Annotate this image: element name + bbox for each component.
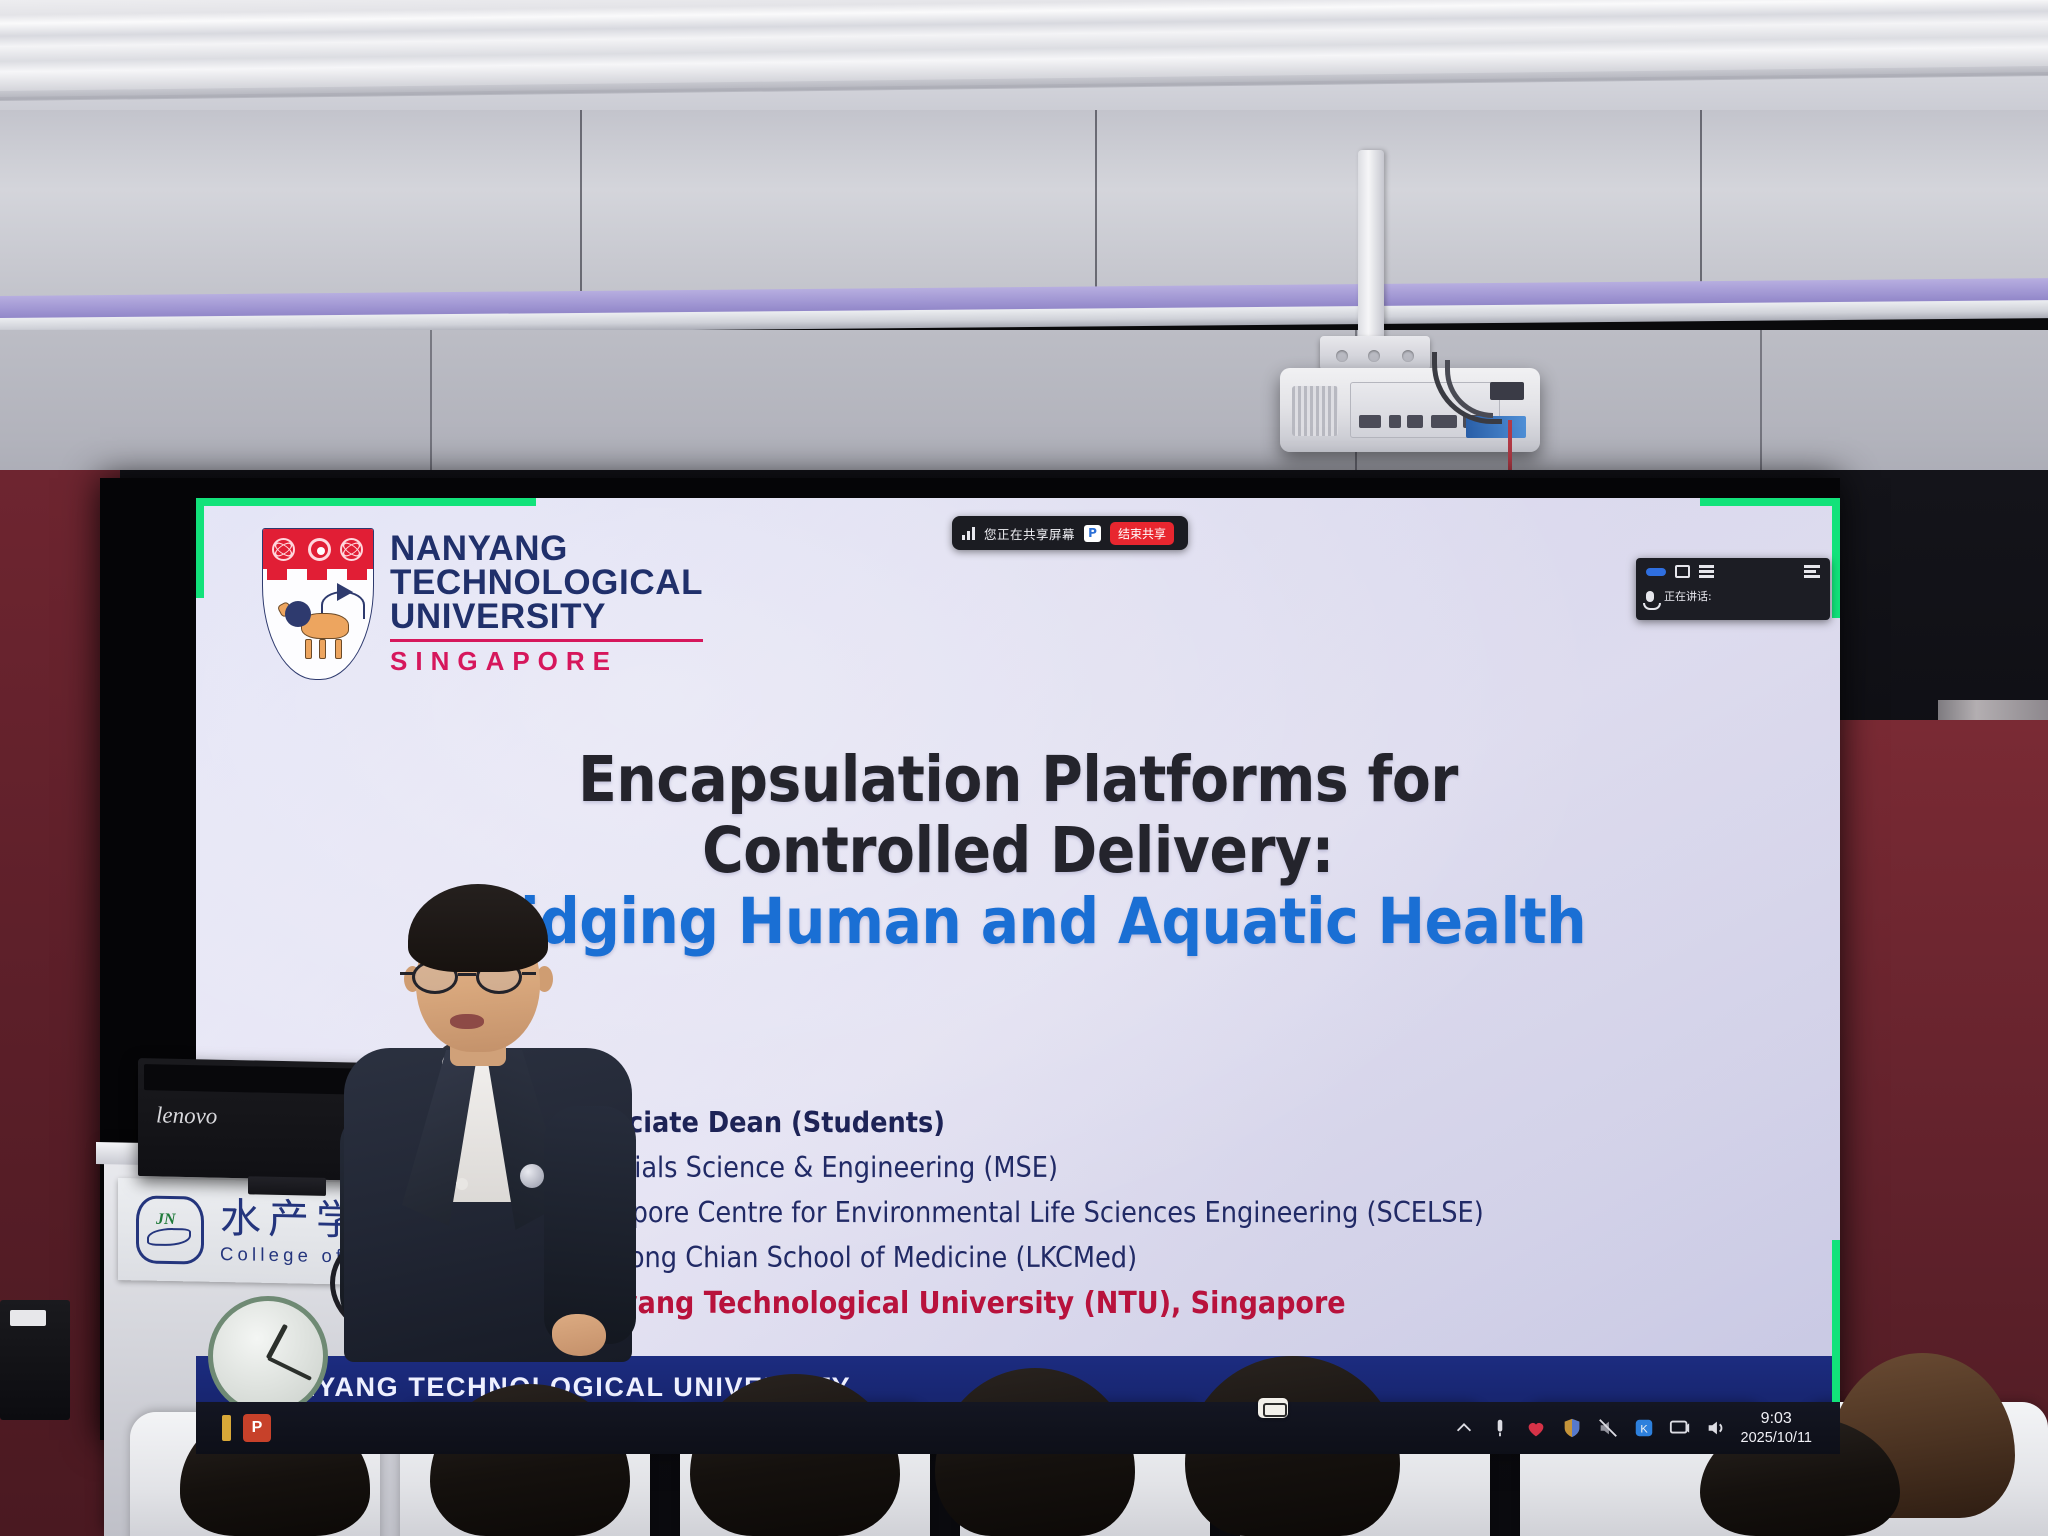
presenter-badge	[520, 1164, 544, 1188]
screen-share-toolbar[interactable]: 您正在共享屏幕 P 结束共享	[952, 516, 1188, 550]
powerpoint-share-icon[interactable]: P	[1084, 525, 1101, 542]
gear-icon	[308, 538, 331, 561]
kingsoft-icon[interactable]: K	[1633, 1417, 1655, 1439]
monitor-stand	[248, 1176, 326, 1196]
presenter-hand	[552, 1314, 606, 1356]
ntu-line-3: UNIVERSITY	[390, 600, 703, 634]
taskbar-clock[interactable]: 9:03 2025/10/11	[1741, 1409, 1823, 1447]
atom-icon	[272, 538, 295, 561]
mute-icon[interactable]	[1597, 1417, 1619, 1439]
microphone-icon[interactable]	[1646, 591, 1654, 602]
ntu-logo: NANYANG TECHNOLOGICAL UNIVERSITY SINGAPO…	[262, 528, 703, 680]
shield-icon[interactable]	[1561, 1417, 1583, 1439]
more-options-icon[interactable]	[1804, 565, 1820, 578]
hair-clip	[1258, 1398, 1288, 1418]
slide-body-line-0: Associate Dean (Students)	[560, 1100, 1484, 1145]
presenter	[338, 862, 638, 1362]
share-border-left	[196, 498, 204, 598]
ntu-line-2: TECHNOLOGICAL	[390, 566, 703, 600]
share-status-text: 您正在共享屏幕	[984, 524, 1075, 543]
slide-body-line-1: Materials Science & Engineering (MSE)	[560, 1145, 1484, 1190]
pen-icon[interactable]	[1489, 1417, 1511, 1439]
atom-icon	[340, 538, 363, 561]
ntu-line-1: NANYANG	[390, 532, 703, 566]
ntu-shield-icon	[262, 528, 374, 680]
toggle-switch-icon[interactable]	[1646, 568, 1666, 576]
fish-logo-icon: JN	[134, 1193, 206, 1266]
share-border-top-right	[1700, 498, 1840, 506]
stop-sharing-button[interactable]: 结束共享	[1110, 522, 1174, 545]
slide-body-line-3: Lee Kong Chian School of Medicine (LKCMe…	[560, 1235, 1484, 1280]
projector-bracket	[1320, 336, 1430, 370]
slide-affiliation: Nanyang Technological University (NTU), …	[560, 1280, 1484, 1327]
slide-body-block: Associate Dean (Students) Materials Scie…	[560, 1100, 1484, 1327]
share-border-right-top	[1832, 498, 1840, 618]
taskbar-app-icon[interactable]	[222, 1415, 231, 1441]
share-border-right-bottom	[1832, 1240, 1840, 1416]
projector-mount-pole	[1358, 150, 1384, 360]
lecture-hall-scene: NANYANG TECHNOLOGICAL UNIVERSITY SINGAPO…	[0, 0, 2048, 1536]
windows-taskbar[interactable]: P K	[196, 1402, 1840, 1454]
ntu-wordmark: NANYANG TECHNOLOGICAL UNIVERSITY SINGAPO…	[390, 528, 703, 677]
svg-text:K: K	[1640, 1424, 1648, 1436]
share-border-top-left	[196, 498, 536, 506]
monitor-brand-label: lenovo	[156, 1102, 217, 1129]
chevron-up-icon[interactable]	[1453, 1417, 1475, 1439]
system-tray[interactable]: K 9:03 2025/10/11	[1453, 1409, 1841, 1447]
slide-body-line-2: Singapore Centre for Environmental Life …	[560, 1190, 1484, 1235]
powerpoint-taskbar-icon[interactable]: P	[243, 1414, 271, 1442]
meeting-control-overlay[interactable]: 正在讲话:	[1636, 558, 1830, 620]
clock-date: 2025/10/11	[1741, 1429, 1813, 1447]
volume-icon[interactable]	[1705, 1417, 1727, 1439]
clock-time: 9:03	[1741, 1409, 1813, 1429]
participants-icon[interactable]	[1699, 565, 1714, 578]
ntu-divider	[390, 639, 703, 642]
presenter-hair	[408, 884, 548, 972]
signal-icon	[962, 527, 975, 540]
speaking-label: 正在讲话:	[1664, 588, 1712, 604]
slide-title-line-1: Encapsulation Platforms for	[196, 744, 1840, 815]
camera-icon[interactable]	[1675, 565, 1690, 578]
ntu-country: SINGAPORE	[390, 646, 703, 677]
heart-icon[interactable]	[1525, 1417, 1547, 1439]
display-icon[interactable]	[1669, 1417, 1691, 1439]
lion-icon	[279, 595, 361, 659]
projector-vent	[1292, 386, 1338, 436]
